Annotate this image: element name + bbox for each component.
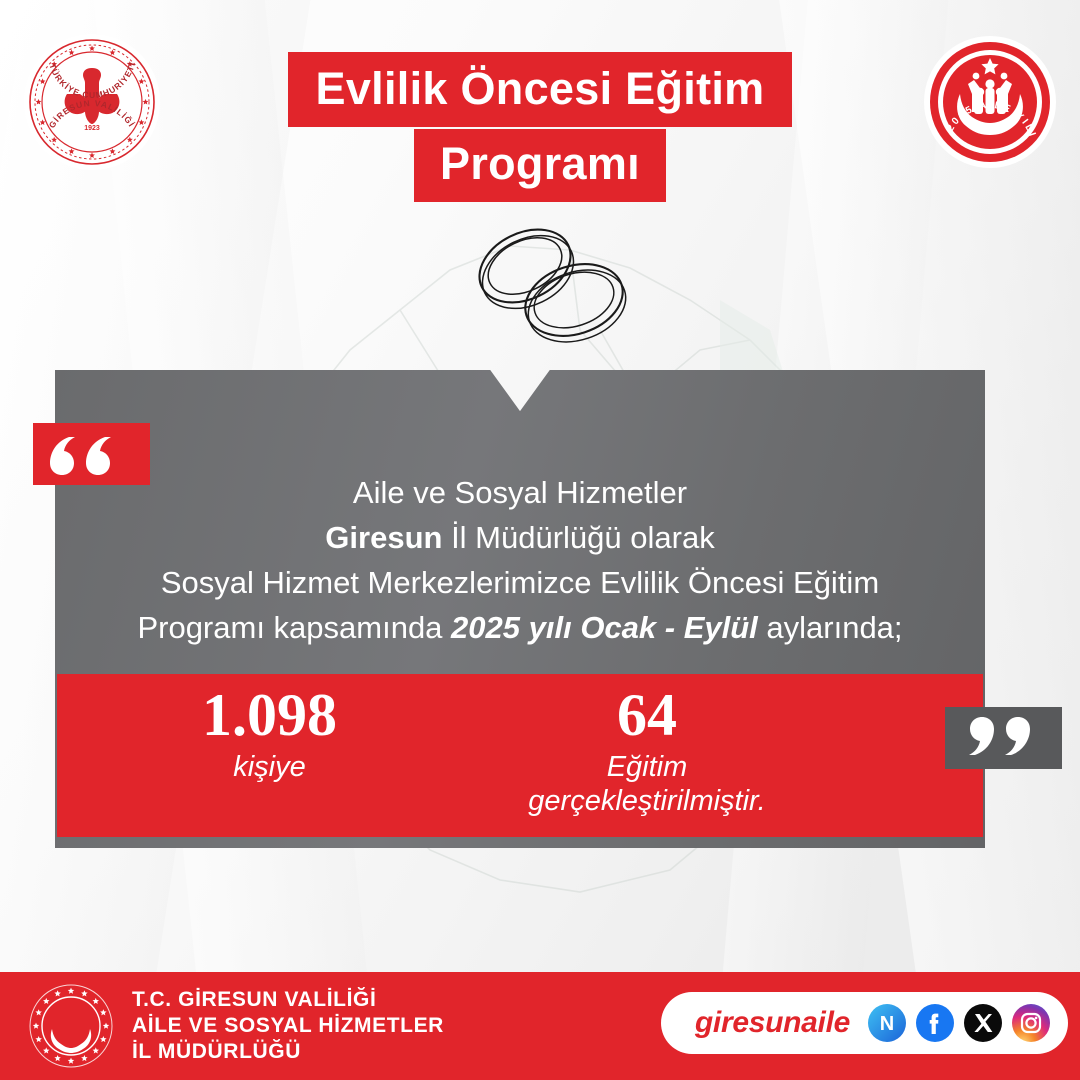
quote-segment: Programı kapsamında — [137, 610, 451, 645]
quote-line: Programı kapsamında 2025 yılı Ocak - Eyl… — [55, 605, 985, 650]
title-line-2: Programı — [414, 129, 666, 202]
quote-segment: Giresun — [325, 520, 442, 555]
poster-title: Evlilik Öncesi Eğitim Programı — [0, 52, 1080, 202]
star-icon — [43, 1047, 49, 1053]
star-icon — [81, 990, 87, 996]
stat-item: 64 Eğitimgerçekleştirilmiştir. — [482, 674, 812, 818]
star-icon — [93, 998, 99, 1004]
footer-title-line-2: AİLE VE SOSYAL HİZMETLER — [132, 1013, 444, 1039]
quote-segment: 2025 yılı Ocak - Eylül — [451, 610, 758, 645]
footer-title-line-3: İL MÜDÜRLÜĞÜ — [132, 1039, 444, 1065]
quote-segment: Aile ve Sosyal Hizmetler — [353, 475, 687, 510]
quote-segment: Sosyal Hizmet Merkezlerimizce Evlilik Ön… — [161, 565, 879, 600]
star-icon — [54, 990, 60, 996]
quote-text: Aile ve Sosyal HizmetlerGiresun İl Müdür… — [55, 470, 985, 650]
stat-label-line: gerçekleştirilmiştir. — [482, 784, 812, 818]
star-icon — [33, 1023, 39, 1029]
star-icon — [68, 1058, 74, 1064]
x-twitter-icon[interactable] — [964, 1004, 1002, 1042]
footer-bar: T.C. GİRESUN VALİLİĞİ AİLE VE SOSYAL HİZ… — [0, 972, 1080, 1080]
quote-open-badge — [33, 423, 150, 485]
star-icon — [103, 1023, 109, 1029]
star-icon — [100, 1009, 106, 1015]
quote-segment: İl Müdürlüğü olarak — [442, 520, 714, 555]
poster-canvas: 1923 TÜRKİYE CUMHURİYETİ GİRESUN VALİLİĞ… — [0, 0, 1080, 1080]
quote-segment: aylarında; — [758, 610, 903, 645]
quote-line: Aile ve Sosyal Hizmetler — [55, 470, 985, 515]
footer-title: T.C. GİRESUN VALİLİĞİ AİLE VE SOSYAL HİZ… — [132, 987, 444, 1065]
stat-label-line: Eğitim — [482, 750, 812, 784]
stat-label: Eğitimgerçekleştirilmiştir. — [482, 750, 812, 818]
svg-text:N: N — [880, 1013, 894, 1035]
star-icon — [43, 998, 49, 1004]
stat-label: kişiye — [57, 750, 482, 784]
quote-line: Sosyal Hizmet Merkezlerimizce Evlilik Ön… — [55, 560, 985, 605]
social-handle: giresunaile — [695, 1006, 850, 1040]
star-icon — [68, 988, 74, 994]
quote-line: Giresun İl Müdürlüğü olarak — [55, 515, 985, 560]
star-icon — [54, 1055, 60, 1061]
quote-open-icon — [33, 423, 150, 485]
star-icon — [100, 1036, 106, 1042]
quote-close-badge — [945, 707, 1062, 769]
facebook-icon[interactable] — [916, 1004, 954, 1042]
star-icon — [35, 1009, 41, 1015]
star-icon — [93, 1047, 99, 1053]
stat-item: 1.098 kişiye — [57, 674, 482, 784]
footer-title-line-1: T.C. GİRESUN VALİLİĞİ — [132, 987, 444, 1013]
nsosyal-icon[interactable]: N — [868, 1004, 906, 1042]
star-icon — [81, 1055, 87, 1061]
quote-close-icon — [945, 707, 1062, 769]
star-icon — [35, 1036, 41, 1042]
wedding-rings-illustration — [452, 208, 652, 358]
ministry-emblem-icon — [28, 983, 114, 1069]
instagram-icon[interactable] — [1012, 1004, 1050, 1042]
stat-number: 64 — [482, 684, 812, 747]
title-line-1: Evlilik Öncesi Eğitim — [288, 52, 793, 127]
social-media-pill: giresunaile N — [661, 992, 1068, 1054]
stat-number: 1.098 — [57, 684, 482, 747]
statistics-band: 1.098 kişiye 64 Eğitimgerçekleştirilmişt… — [57, 674, 983, 837]
